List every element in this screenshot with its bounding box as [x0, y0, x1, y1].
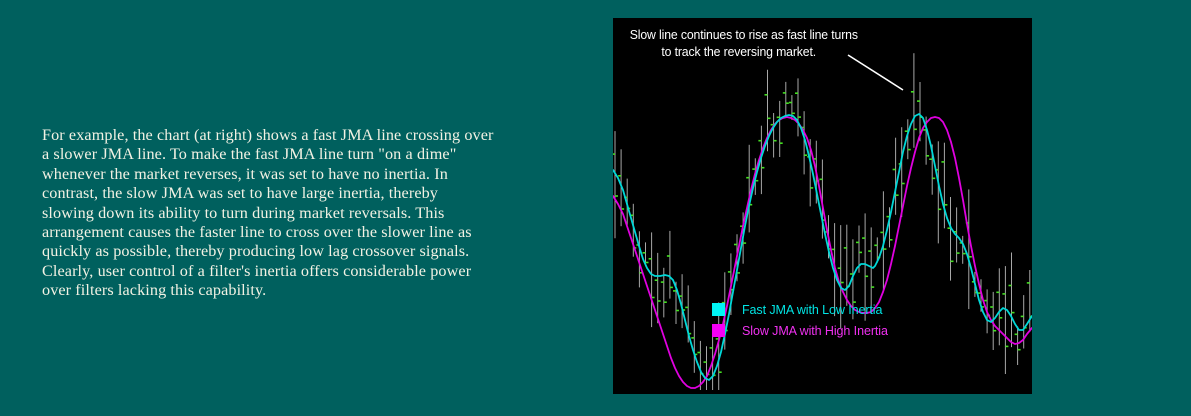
legend-label-slow: Slow JMA with High Inertia: [742, 321, 888, 340]
annotation-leader-line: [848, 55, 903, 90]
annotation-line-2: to track the reversing market.: [661, 43, 816, 60]
jma-chart-panel: Slow line continues to rise as fast line…: [613, 18, 1032, 394]
legend-swatch-fast-icon: [712, 303, 725, 316]
explanatory-paragraph: For example, the chart (at right) shows …: [42, 126, 494, 301]
legend-label-fast: Fast JMA with Low Inertia: [742, 300, 882, 319]
page-root: For example, the chart (at right) shows …: [0, 0, 1191, 416]
annotation-line-1: Slow line continues to rise as fast line…: [630, 26, 858, 43]
legend-swatch-slow-icon: [712, 324, 725, 337]
